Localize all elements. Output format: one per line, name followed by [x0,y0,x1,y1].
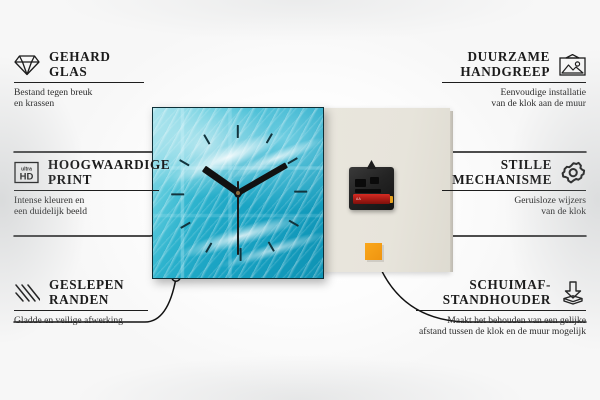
feature-title-line2: HANDGREEP [460,65,550,80]
feature-desc-line1: Eenvoudige installatie [442,87,586,98]
feature-title-line1: GEHARD [49,50,110,65]
feature-desc: Maakt het behouden van een gelijke afsta… [416,315,586,338]
feature-desc: Bestand tegen breuk en krassen [14,87,144,110]
feature-title-line1: STILLE [452,158,552,173]
feature-desc-line2: en krassen [14,98,144,109]
arrow-down-pad-icon [560,281,586,305]
gear-icon [561,161,586,185]
feature-title-line2: GLAS [49,65,110,80]
feature-desc-line2: afstand tussen de klok en de muur mogeli… [416,326,586,337]
feature-desc: Eenvoudige installatie van de klok aan d… [442,87,586,110]
feature-title-line1: HOOGWAARDIGE [48,158,170,173]
feature-duurzame-handgreep: DUURZAME HANDGREEP Eenvoudige installati… [442,50,586,110]
feature-rule [442,190,586,191]
ultra-hd-icon-large-text: HD [20,172,34,183]
feature-desc-line2: van de klok [442,206,586,217]
ultra-hd-icon: ultra HD [14,161,39,184]
feature-desc: Geruisloze wijzers van de klok [442,195,586,218]
feature-desc-line2: een duidelijk beeld [14,206,159,217]
feature-desc-line1: Gladde en veilige afwerking [14,315,148,326]
feature-title-line1: GESLEPEN [49,278,124,293]
movement-slot-mid [370,177,379,184]
infographic-canvas: AA GEHARD GLAS Bestand tegen breuk en kr… [0,0,600,400]
clock-battery: AA [353,194,390,204]
movement-slot-bottom [355,189,381,193]
feature-stille-mechanisme: STILLE MECHANISME Geruisloze wijzers van… [442,158,586,218]
feature-desc: Gladde en veilige afwerking [14,315,148,326]
feature-rule [14,190,159,191]
feature-rule [416,310,586,311]
feature-desc-line1: Maakt het behouden van een gelijke [416,315,586,326]
feature-desc-line1: Intense kleuren en [14,195,159,206]
diamond-icon [14,54,40,76]
feature-desc-line1: Geruisloze wijzers [442,195,586,206]
battery-label: AA [356,197,361,201]
feature-rule [442,82,586,83]
feature-title-line1: SCHUIMAF- [443,278,551,293]
feature-title-line2: STANDHOUDER [443,293,551,308]
feature-desc-line2: van de klok aan de muur [442,98,586,109]
foam-spacer-pad [365,243,382,260]
feature-rule [14,82,144,83]
movement-slot-left [355,179,366,187]
battery-terminal [390,196,393,203]
feature-geslepen-randen: GESLEPEN RANDEN Gladde en veilige afwerk… [14,278,148,326]
feature-desc: Intense kleuren en een duidelijk beeld [14,195,159,218]
clock-center-cap [238,193,240,195]
feature-title-line1: DUURZAME [460,50,550,65]
feature-desc-line1: Bestand tegen breuk [14,87,144,98]
diagonal-lines-icon [14,282,40,304]
feature-schuimaf-standhouder: SCHUIMAF- STANDHOUDER Maakt het behouden… [416,278,586,338]
feature-title-line2: RANDEN [49,293,124,308]
picture-frame-icon [559,54,586,76]
wall-clock [152,107,324,279]
feature-title-line2: PRINT [48,173,170,188]
feature-hoogwaardige-print: ultra HD HOOGWAARDIGE PRINT Intense kleu… [14,158,159,218]
feature-gehard-glas: GEHARD GLAS Bestand tegen breuk en krass… [14,50,144,110]
feature-title-line2: MECHANISME [452,173,552,188]
feature-rule [14,310,148,311]
